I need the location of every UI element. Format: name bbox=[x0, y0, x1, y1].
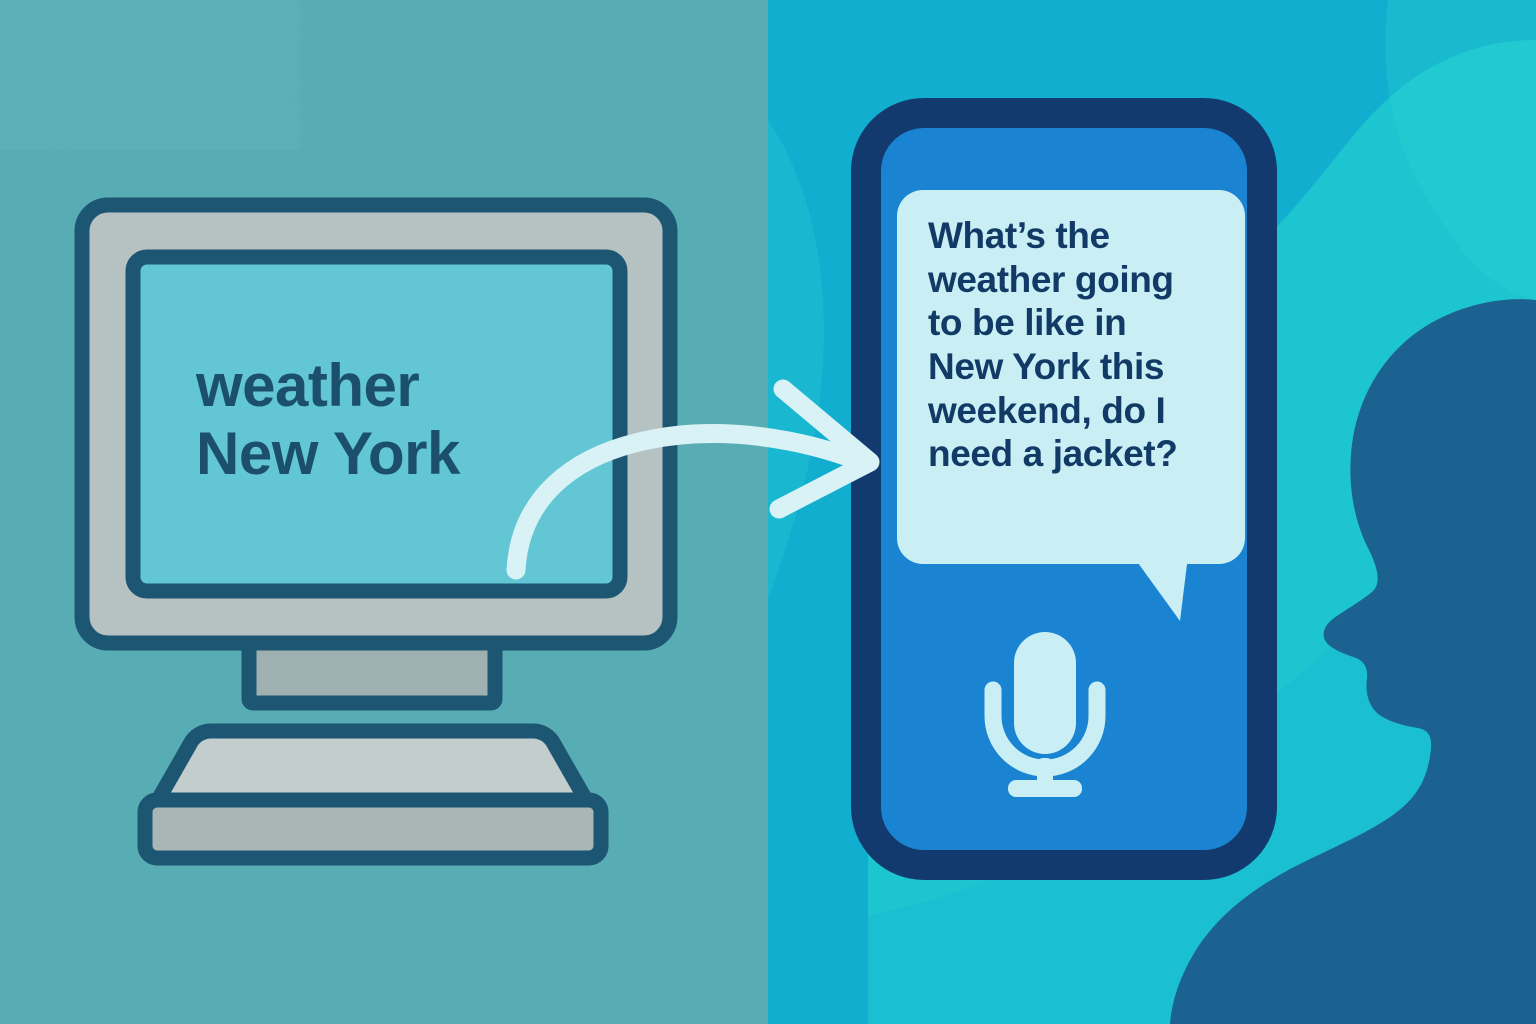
illustration-canvas: weather New York What’s the weather goin… bbox=[0, 0, 1536, 1024]
curved-transition-arrow bbox=[0, 0, 1536, 1024]
